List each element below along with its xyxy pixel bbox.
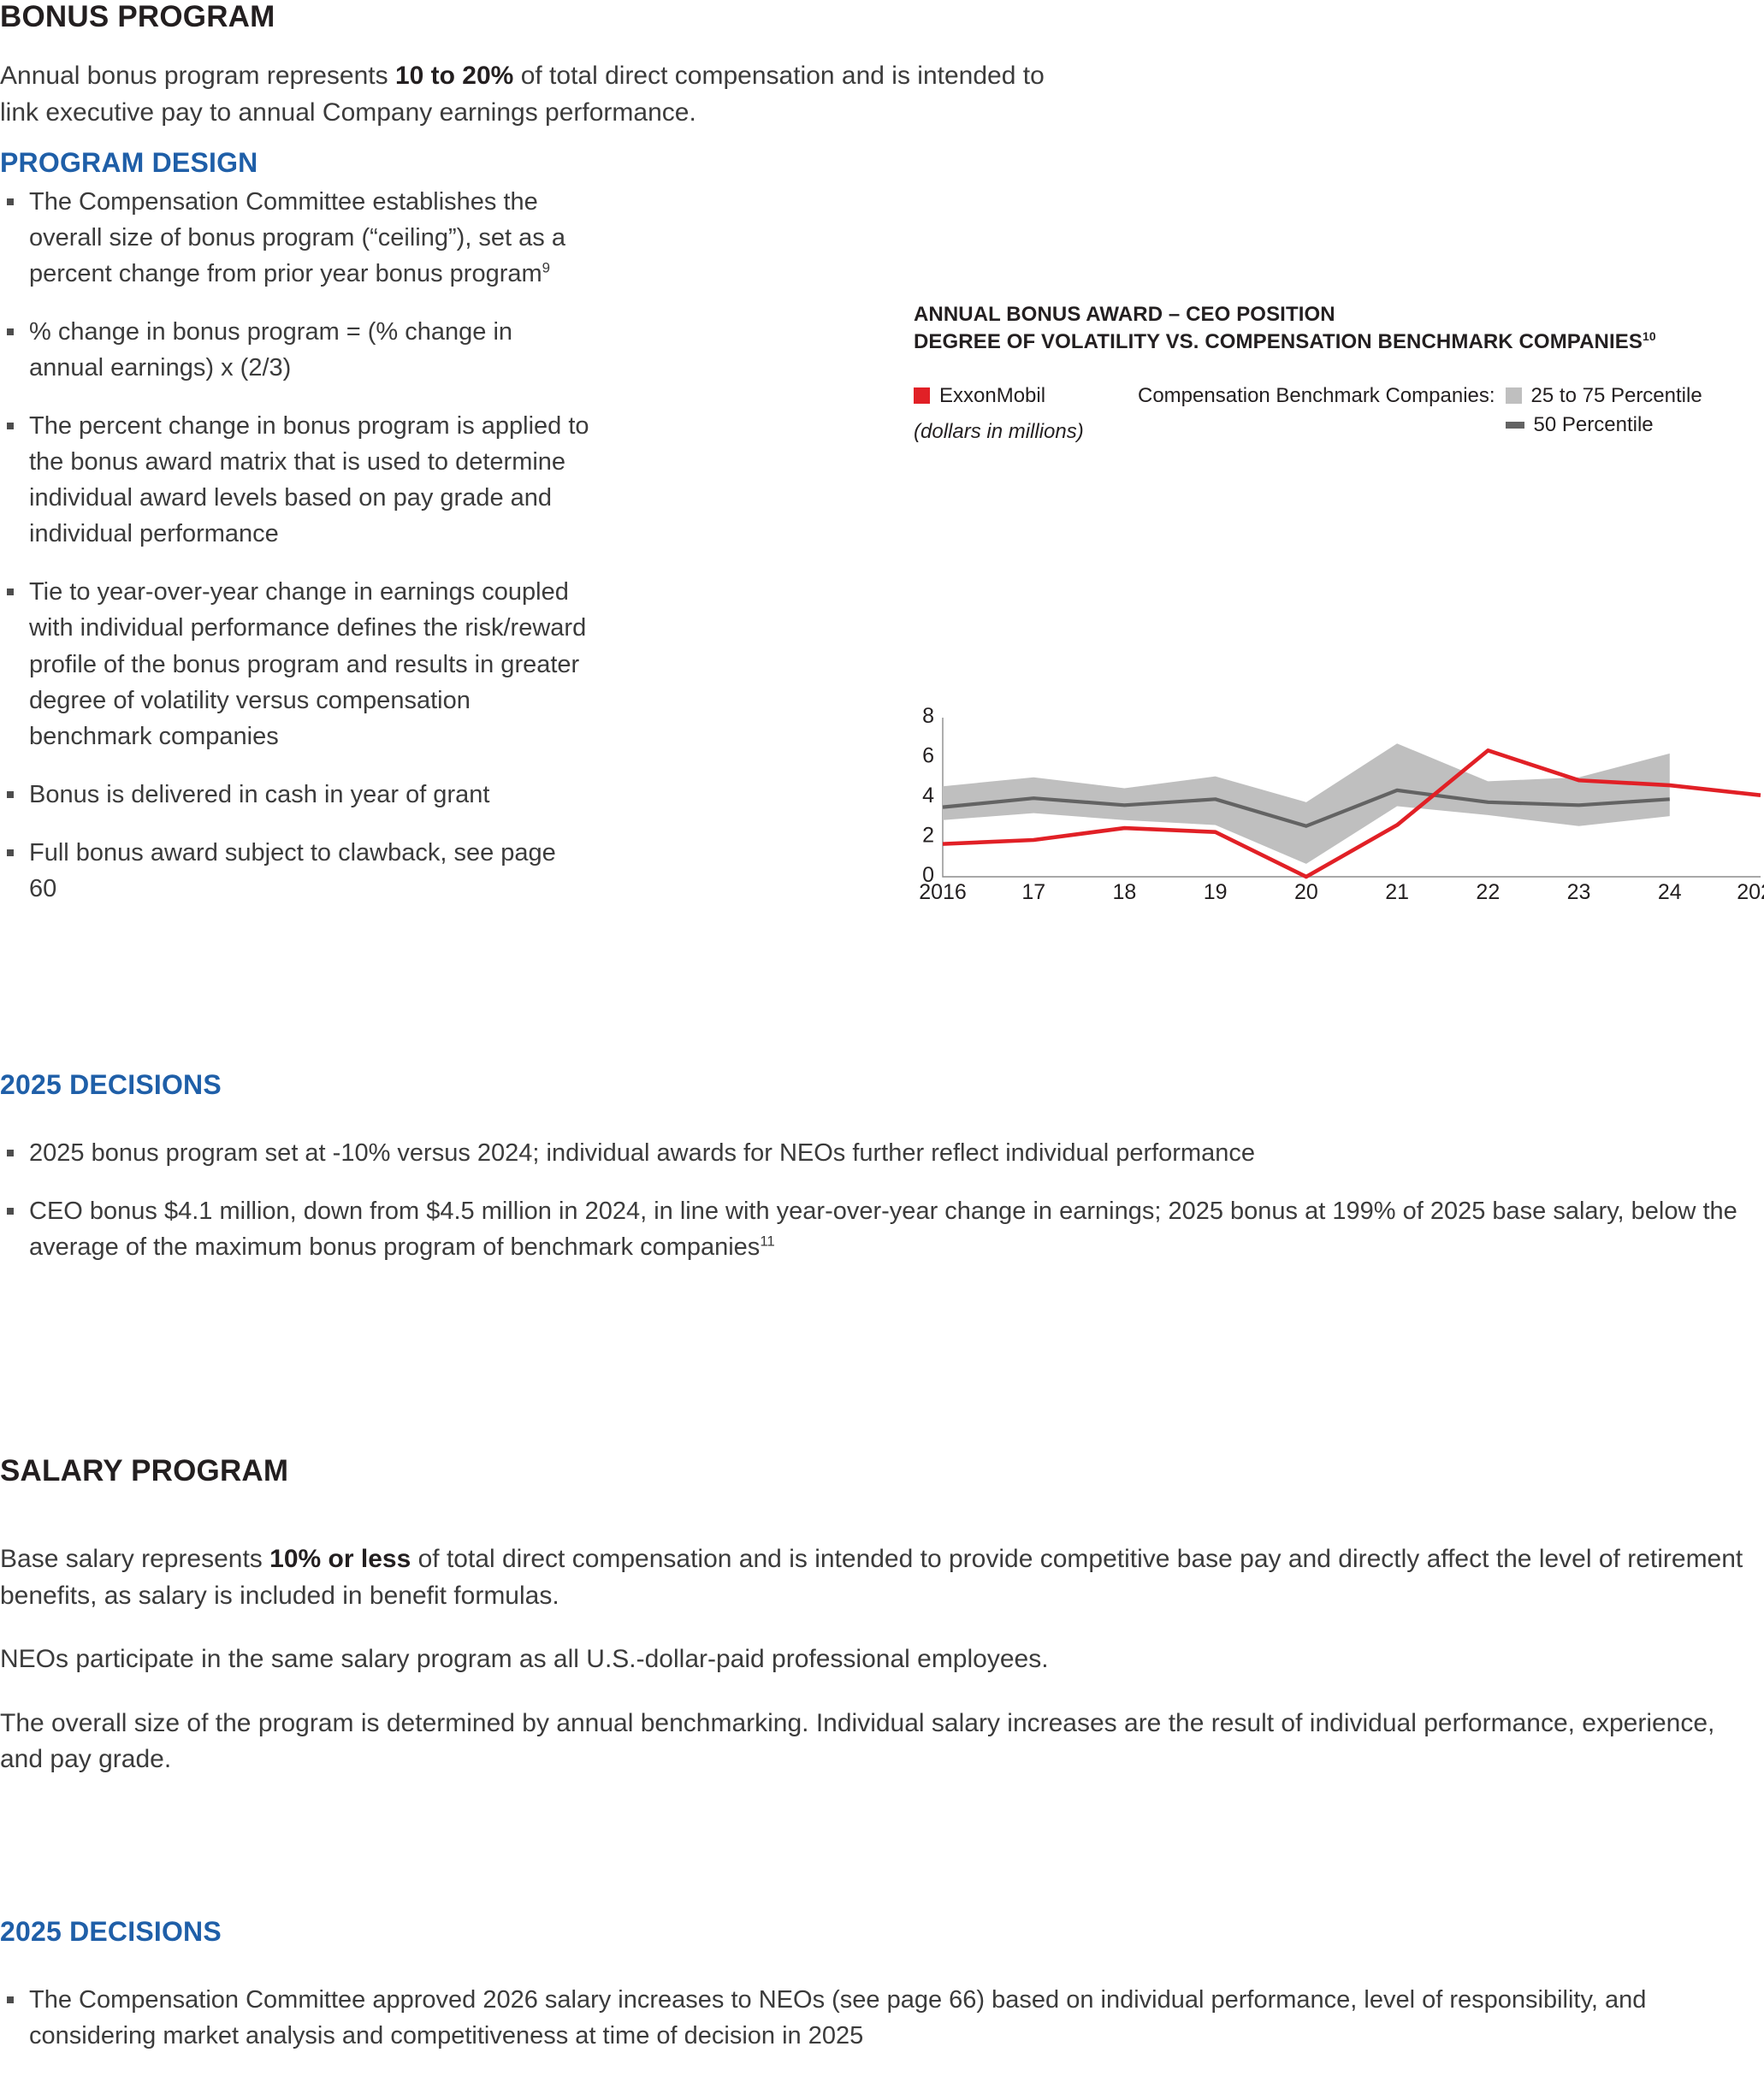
list-item: CEO bonus $4.1 million, down from $4.5 m… (0, 1193, 1764, 1265)
chart-units-note: (dollars in millions) (914, 420, 1138, 444)
bonus-program-heading: BONUS PROGRAM (0, 0, 770, 34)
program-design-heading: PROGRAM DESIGN (0, 147, 599, 179)
salary-paragraph-2: NEOs participate in the same salary prog… (0, 1641, 1764, 1678)
list-item: Bonus is delivered in cash in year of gr… (0, 777, 590, 813)
legend-benchmark-items: 25 to 75 Percentile 50 Percentile (1506, 384, 1702, 437)
y-axis-tick-label: 4 (922, 784, 934, 807)
chart-plot-area: 02468 201617181920212223242025 (914, 456, 1764, 1166)
legend-label-median: 50 Percentile (1534, 413, 1654, 437)
list-item: The Compensation Committee approved 2026… (0, 1982, 1764, 2054)
x-axis-tick-label: 19 (1204, 880, 1228, 904)
legend-item-median: 50 Percentile (1506, 413, 1702, 437)
y-axis-tick-label: 2 (922, 823, 934, 847)
grey-square-icon (1506, 387, 1522, 404)
legend-right-group: Compensation Benchmark Companies: 25 to … (1138, 384, 1702, 437)
chart-title-line-2-wrap: DEGREE OF VOLATILITY VS. COMPENSATION BE… (914, 328, 1764, 356)
chart-title: ANNUAL BONUS AWARD – CEO POSITION DEGREE… (914, 301, 1764, 356)
legend-left-group: ExxonMobil (dollars in millions) (914, 384, 1138, 444)
x-axis-tick-label: 2025 (1737, 880, 1764, 904)
chart-title-line-2: DEGREE OF VOLATILITY VS. COMPENSATION BE… (914, 330, 1643, 353)
chart-svg: 02468 201617181920212223242025 (914, 456, 1764, 1166)
legend-label-exxonmobil: ExxonMobil (939, 384, 1045, 408)
footnote-marker: 9 (542, 259, 550, 275)
chart-title-footnote: 10 (1643, 329, 1656, 343)
salary-paragraphs: Base salary represents 10% or less of to… (0, 1541, 1764, 1778)
bonus-decisions-section: 2025 DECISIONS 2025 bonus program set at… (0, 1069, 1764, 1287)
program-design-bullet-list: The Compensation Committee establishes t… (0, 184, 590, 929)
bonus-decisions-bullet-list: 2025 bonus program set at -10% versus 20… (0, 1135, 1764, 1265)
x-axis-tick-label: 21 (1385, 880, 1409, 904)
bullet-text: The Compensation Committee establishes t… (29, 188, 565, 287)
list-item: The percent change in bonus program is a… (0, 408, 590, 552)
chart-y-axis-ticks: 02468 (922, 704, 934, 887)
x-axis-tick-label: 20 (1294, 880, 1318, 904)
list-item: Full bonus award subject to clawback, se… (0, 835, 590, 907)
x-axis-tick-label: 18 (1113, 880, 1137, 904)
bonus-formula: % change in bonus program = (% change in… (0, 314, 590, 386)
footnote-marker: 11 (760, 1233, 774, 1249)
bonus-intro-bold: 10 to 20% (395, 62, 513, 90)
x-axis-tick-label: 23 (1567, 880, 1591, 904)
chart-legend: ExxonMobil (dollars in millions) Compens… (914, 384, 1764, 444)
list-item: The Compensation Committee establishes t… (0, 184, 590, 292)
salary-p1-pre: Base salary represents (0, 1545, 269, 1573)
bullet-text: CEO bonus $4.1 million, down from $4.5 m… (29, 1198, 1737, 1261)
bonus-volatility-chart: ANNUAL BONUS AWARD – CEO POSITION DEGREE… (914, 301, 1764, 1166)
chart-x-axis-ticks: 201617181920212223242025 (919, 880, 1764, 904)
salary-decisions-bullet-list: The Compensation Committee approved 2026… (0, 1982, 1764, 2054)
y-axis-tick-label: 6 (922, 743, 934, 767)
salary-paragraph-3: The overall size of the program is deter… (0, 1706, 1764, 1778)
salary-paragraph-1: Base salary represents 10% or less of to… (0, 1541, 1764, 1614)
legend-label-benchmark: Compensation Benchmark Companies: (1138, 384, 1495, 408)
x-axis-tick-label: 2016 (919, 880, 967, 904)
legend-item-exxonmobil: ExxonMobil (914, 384, 1138, 408)
x-axis-tick-label: 22 (1476, 880, 1500, 904)
bonus-decisions-heading: 2025 DECISIONS (0, 1069, 1764, 1101)
x-axis-tick-label: 17 (1021, 880, 1045, 904)
bonus-intro-pre: Annual bonus program represents (0, 62, 395, 90)
legend-item-band: 25 to 75 Percentile (1506, 384, 1702, 408)
salary-decisions-heading: 2025 DECISIONS (0, 1916, 1764, 1948)
salary-program-section: SALARY PROGRAM Base salary represents 10… (0, 1454, 1764, 1806)
y-axis-tick-label: 8 (922, 704, 934, 728)
red-square-icon (914, 387, 930, 404)
salary-decisions-section: 2025 DECISIONS The Compensation Committe… (0, 1916, 1764, 2076)
x-axis-tick-label: 24 (1658, 880, 1682, 904)
legend-label-band: 25 to 75 Percentile (1531, 384, 1702, 408)
bonus-intro-paragraph: Annual bonus program represents 10 to 20… (0, 58, 1069, 131)
proxy-statement-page: BONUS PROGRAM Annual bonus program repre… (0, 0, 1764, 2073)
grey-line-icon (1506, 422, 1524, 429)
list-item: Tie to year-over-year change in earnings… (0, 574, 590, 754)
salary-p1-bold: 10% or less (269, 1545, 411, 1573)
salary-program-heading: SALARY PROGRAM (0, 1454, 1764, 1488)
chart-title-line-1: ANNUAL BONUS AWARD – CEO POSITION (914, 301, 1764, 328)
list-item: 2025 bonus program set at -10% versus 20… (0, 1135, 1764, 1171)
